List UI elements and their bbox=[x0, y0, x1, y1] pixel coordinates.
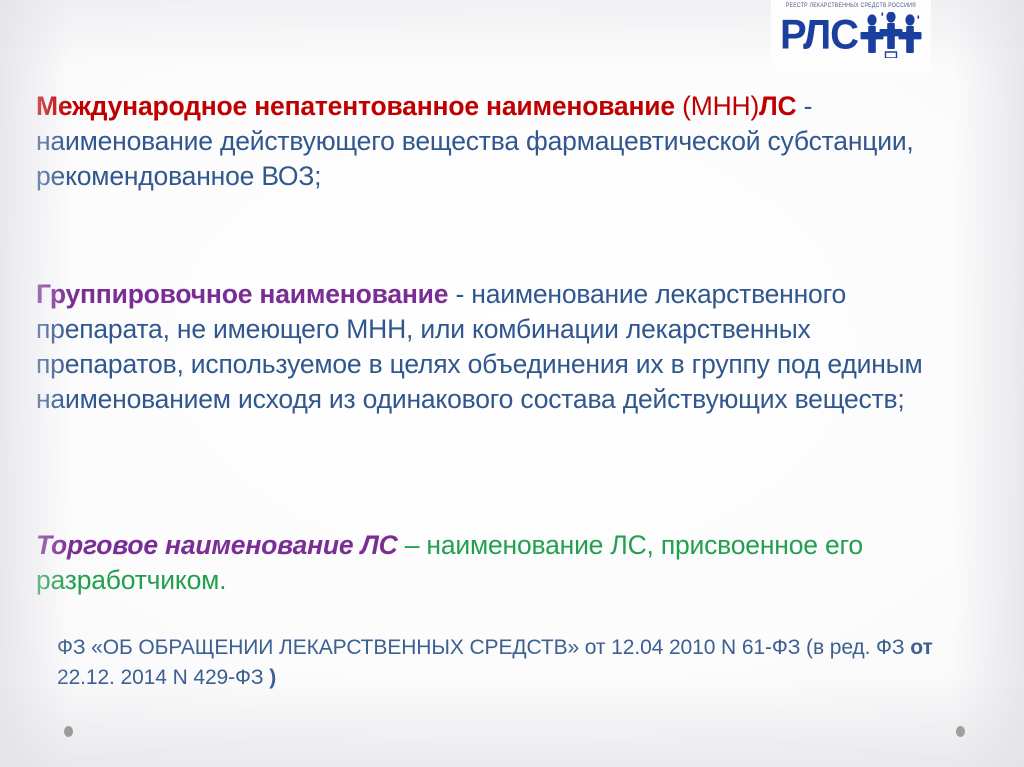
logo-wordmark: РЛС bbox=[780, 14, 858, 56]
logo-tagline: РЕЕСТР ЛЕКАРСТВЕННЫХ СРЕДСТВ РОССИИ® bbox=[786, 3, 916, 10]
rls-logo: РЕЕСТР ЛЕКАРСТВЕННЫХ СРЕДСТВ РОССИИ® РЛС bbox=[771, 0, 931, 73]
trade-name-term: Торговое наименование ЛС bbox=[36, 530, 398, 560]
definition-grouping-name: Группировочное наименование - наименован… bbox=[36, 277, 936, 417]
definition-trade-name: Торговое наименование ЛС – наименование … bbox=[36, 528, 936, 598]
law-reference: ФЗ «ОБ ОБРАЩЕНИИ ЛЕКАРСТВЕННЫХ СРЕДСТВ» … bbox=[57, 633, 937, 693]
law-reference-part2: 22.12. 2014 N 429-ФЗ bbox=[57, 666, 269, 689]
inn-term-ls: ЛС bbox=[759, 91, 796, 121]
grouping-name-term: Группировочное наименование bbox=[36, 279, 448, 309]
logo-cross-figures-icon bbox=[860, 12, 922, 58]
decorative-dot-right bbox=[956, 726, 965, 737]
law-reference-part1: ФЗ «ОБ ОБРАЩЕНИИ ЛЕКАРСТВЕННЫХ СРЕДСТВ» … bbox=[57, 636, 910, 659]
decorative-dot-left bbox=[64, 726, 73, 737]
slide-canvas: РЕЕСТР ЛЕКАРСТВЕННЫХ СРЕДСТВ РОССИИ® РЛС bbox=[0, 0, 1024, 767]
inn-term: Международное непатентованное наименован… bbox=[36, 91, 675, 121]
definition-inn: Международное непатентованное наименован… bbox=[36, 89, 936, 194]
law-reference-bold2: ) bbox=[269, 666, 276, 689]
inn-abbrev: (МНН) bbox=[675, 91, 759, 121]
law-reference-bold1: от bbox=[910, 636, 932, 659]
logo-mark: РЛС bbox=[780, 12, 922, 58]
